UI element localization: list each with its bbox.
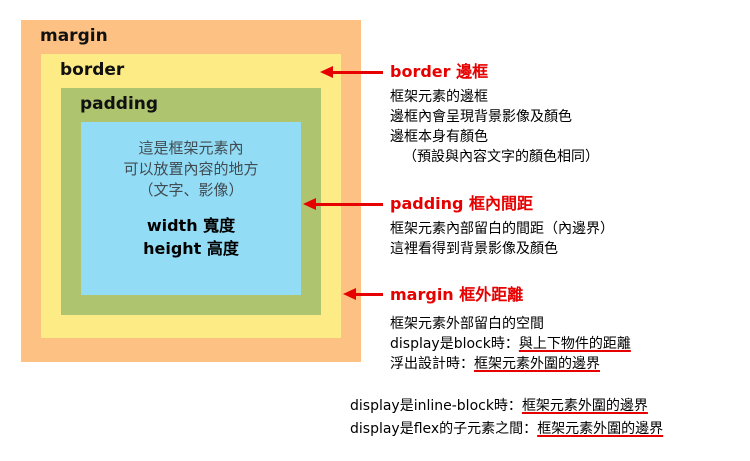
arrow-shaft — [313, 203, 383, 206]
box-model-diagram: margin border padding 這是框架元素內 可以放置內容的地方 … — [0, 0, 750, 461]
border-box-label: border — [60, 60, 124, 80]
margin-annotation-line-3-prefix: 浮出設計時： — [390, 356, 474, 372]
padding-annotation-line-1: 框架元素內部留白的間距（內邊界） — [390, 219, 614, 239]
margin-annotation-line-3-underlined: 框架元素外圍的邊界 — [474, 356, 600, 372]
arrow-shaft — [330, 71, 383, 74]
margin-annotation-line-2-prefix: display是block時： — [390, 336, 519, 352]
content-height-label: height 高度 — [81, 237, 301, 260]
padding-box-label: padding — [80, 94, 158, 114]
border-annotation: border 邊框 框架元素的邊框 邊框內會呈現背景影像及顏色 邊框本身有顏色 … — [390, 58, 599, 167]
margin-arrow-icon — [343, 287, 383, 301]
padding-annotation: padding 框內間距 框架元素內部留白的間距（內邊界） 這裡看得到背景影像及… — [390, 190, 614, 259]
padding-arrow-icon — [303, 197, 383, 211]
margin-annotation-title: margin 框外距離 — [390, 281, 631, 305]
content-description-line-3: （文字、影像） — [81, 180, 301, 201]
content-box: 這是框架元素內 可以放置內容的地方 （文字、影像） width 寬度 heigh… — [81, 122, 301, 295]
content-dimensions: width 寬度 height 高度 — [81, 214, 301, 260]
margin-annotation-line-3: 浮出設計時：框架元素外圍的邊界 — [390, 354, 631, 374]
margin-box: margin border padding 這是框架元素內 可以放置內容的地方 … — [21, 20, 361, 362]
border-box: border padding 這是框架元素內 可以放置內容的地方 （文字、影像）… — [41, 54, 341, 338]
footnote-line-1-underlined: 框架元素外圍的邊界 — [522, 398, 648, 414]
content-description-line-1: 這是框架元素內 — [81, 138, 301, 159]
content-width-label: width 寬度 — [81, 214, 301, 237]
border-annotation-line-4: （預設與內容文字的顏色相同） — [390, 147, 599, 167]
border-arrow-icon — [320, 65, 383, 79]
padding-annotation-line-2: 這裡看得到背景影像及顏色 — [390, 239, 614, 259]
margin-annotation-body: 框架元素外部留白的空間 display是block時：與上下物件的距離 浮出設計… — [390, 314, 631, 374]
arrow-shaft — [353, 293, 383, 296]
margin-annotation-line-2: display是block時：與上下物件的距離 — [390, 334, 631, 354]
border-annotation-line-1: 框架元素的邊框 — [390, 87, 599, 107]
margin-annotation-line-1: 框架元素外部留白的空間 — [390, 314, 631, 334]
border-annotation-title: border 邊框 — [390, 58, 599, 82]
margin-annotation: margin 框外距離 框架元素外部留白的空間 display是block時：與… — [390, 281, 631, 374]
border-annotation-line-3: 邊框本身有顏色 — [390, 127, 599, 147]
footnote-line-2-prefix: display是flex的子元素之間： — [350, 421, 537, 437]
content-description: 這是框架元素內 可以放置內容的地方 （文字、影像） — [81, 138, 301, 201]
footnote-line-2-underlined: 框架元素外圍的邊界 — [537, 421, 663, 437]
margin-box-label: margin — [40, 26, 108, 46]
footnote-line-2: display是flex的子元素之間：框架元素外圍的邊界 — [350, 418, 663, 441]
padding-box: padding 這是框架元素內 可以放置內容的地方 （文字、影像） width … — [61, 88, 321, 315]
content-description-line-2: 可以放置內容的地方 — [81, 159, 301, 180]
padding-annotation-title: padding 框內間距 — [390, 190, 614, 214]
border-annotation-line-2: 邊框內會呈現背景影像及顏色 — [390, 107, 599, 127]
border-annotation-body: 框架元素的邊框 邊框內會呈現背景影像及顏色 邊框本身有顏色 （預設與內容文字的顏… — [390, 87, 599, 167]
footnote-line-1-prefix: display是inline-block時： — [350, 398, 522, 414]
margin-annotation-line-2-underlined: 與上下物件的距離 — [519, 336, 631, 352]
footnote-line-1: display是inline-block時：框架元素外圍的邊界 — [350, 395, 663, 418]
padding-annotation-body: 框架元素內部留白的間距（內邊界） 這裡看得到背景影像及顏色 — [390, 219, 614, 259]
footnote-annotations: display是inline-block時：框架元素外圍的邊界 display是… — [350, 395, 663, 441]
